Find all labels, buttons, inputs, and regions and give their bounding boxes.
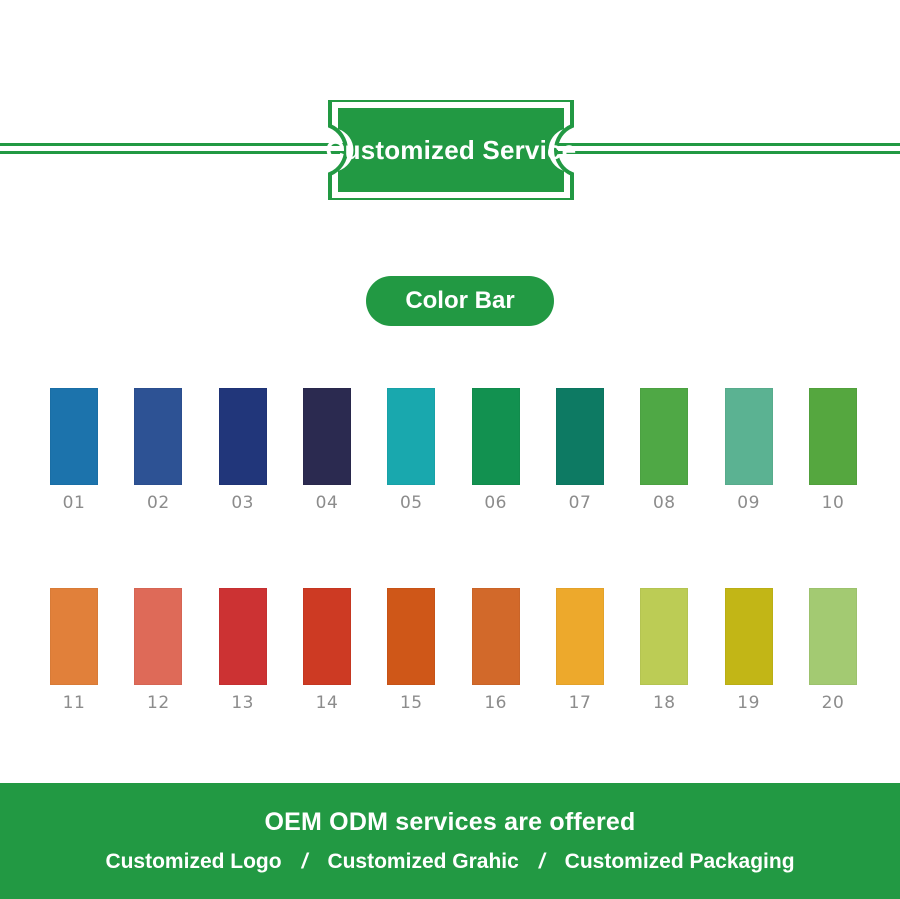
color-swatch-number: 15 [400, 695, 423, 712]
color-swatch-item[interactable]: 03 [219, 388, 267, 518]
color-swatch-number: 07 [569, 495, 592, 512]
color-swatch-item[interactable]: 06 [472, 388, 520, 518]
color-swatch-number: 03 [231, 495, 254, 512]
color-swatch-number: 10 [822, 495, 845, 512]
color-swatch-chip[interactable] [472, 388, 520, 485]
footer-banner: OEM ODM services are offered Customized … [0, 783, 900, 899]
color-swatch-chip[interactable] [556, 588, 604, 685]
color-swatch-item[interactable]: 14 [303, 588, 351, 718]
color-swatch-number: 16 [484, 695, 507, 712]
color-swatch-chip[interactable] [219, 388, 267, 485]
color-swatch-chip[interactable] [725, 588, 773, 685]
color-swatch-item[interactable]: 19 [725, 588, 773, 718]
color-swatch-row-2: 11121314151617181920 [50, 588, 857, 718]
footer-service-item: Customized Packaging [559, 850, 801, 874]
color-swatch-chip[interactable] [134, 388, 182, 485]
footer-service-item: Customized Grahic [321, 850, 524, 874]
footer-service-separator: / [288, 850, 322, 874]
color-swatch-chip[interactable] [134, 588, 182, 685]
color-swatch-item[interactable]: 04 [303, 388, 351, 518]
header-banner: Customized Service [0, 0, 900, 270]
color-swatch-item[interactable]: 11 [50, 588, 98, 718]
color-swatch-item[interactable]: 02 [134, 388, 182, 518]
color-swatch-item[interactable]: 09 [725, 388, 773, 518]
color-swatch-chip[interactable] [387, 388, 435, 485]
color-swatch-number: 08 [653, 495, 676, 512]
color-swatch-chip[interactable] [725, 388, 773, 485]
color-swatch-row-1: 01020304050607080910 [50, 388, 857, 518]
color-bar-pill-label: Color Bar [405, 287, 514, 315]
footer-service-list: Customized Logo/Customized Grahic/Custom… [99, 850, 800, 874]
color-swatch-chip[interactable] [50, 588, 98, 685]
color-swatch-chip[interactable] [556, 388, 604, 485]
header-badge: Customized Service [318, 100, 584, 200]
color-swatch-number: 13 [231, 695, 254, 712]
color-swatch-number: 04 [316, 495, 339, 512]
color-bar-section-pill: Color Bar [366, 276, 554, 326]
color-swatch-chip[interactable] [640, 388, 688, 485]
color-swatch-number: 20 [822, 695, 845, 712]
color-swatch-chip[interactable] [472, 588, 520, 685]
color-swatch-number: 06 [484, 495, 507, 512]
color-swatch-chip[interactable] [303, 588, 351, 685]
color-swatch-number: 17 [569, 695, 592, 712]
color-swatch-chip[interactable] [387, 588, 435, 685]
color-swatch-item[interactable]: 12 [134, 588, 182, 718]
color-swatch-number: 02 [147, 495, 170, 512]
color-swatch-number: 14 [316, 695, 339, 712]
color-swatch-chip[interactable] [809, 388, 857, 485]
color-swatch-item[interactable]: 20 [809, 588, 857, 718]
color-swatch-chip[interactable] [50, 388, 98, 485]
color-swatch-chip[interactable] [219, 588, 267, 685]
color-swatch-number: 01 [63, 495, 86, 512]
color-swatch-chip[interactable] [640, 588, 688, 685]
color-swatch-number: 19 [737, 695, 760, 712]
footer-headline: OEM ODM services are offered [264, 808, 635, 837]
color-swatch-chip[interactable] [809, 588, 857, 685]
color-swatch-number: 18 [653, 695, 676, 712]
color-swatch-number: 09 [737, 495, 760, 512]
color-swatch-item[interactable]: 08 [640, 388, 688, 518]
color-swatch-number: 12 [147, 695, 170, 712]
color-swatch-item[interactable]: 13 [219, 588, 267, 718]
color-swatch-item[interactable]: 07 [556, 388, 604, 518]
color-swatch-item[interactable]: 01 [50, 388, 98, 518]
color-swatch-chip[interactable] [303, 388, 351, 485]
color-swatch-item[interactable]: 15 [387, 588, 435, 718]
color-swatch-item[interactable]: 16 [472, 588, 520, 718]
footer-service-separator: / [525, 850, 559, 874]
footer-service-item: Customized Logo [99, 850, 287, 874]
color-swatch-item[interactable]: 05 [387, 388, 435, 518]
color-swatch-number: 11 [63, 695, 86, 712]
color-swatch-item[interactable]: 18 [640, 588, 688, 718]
color-swatch-number: 05 [400, 495, 423, 512]
page-title: Customized Service [318, 100, 584, 200]
color-swatch-item[interactable]: 17 [556, 588, 604, 718]
color-swatch-item[interactable]: 10 [809, 388, 857, 518]
